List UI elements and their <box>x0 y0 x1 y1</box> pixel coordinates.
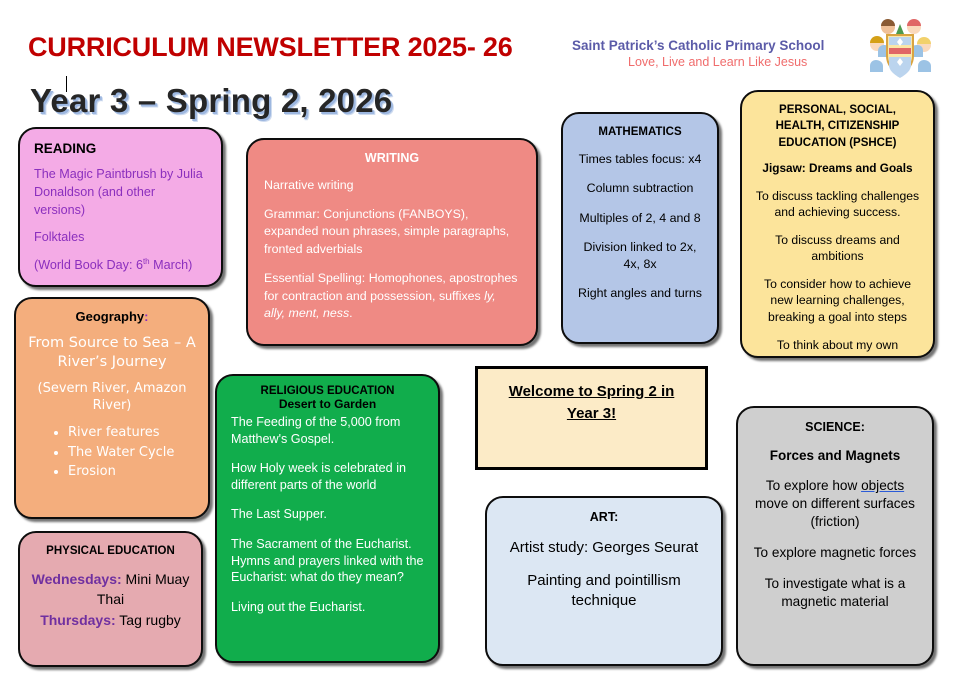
re-heading: RELIGIOUS EDUCATION <box>231 385 424 397</box>
geography-bullet-list: River features The Water Cycle Erosion <box>28 423 196 482</box>
reading-line-2: Folktales <box>34 229 207 247</box>
science-line-1: To explore how objects move on different… <box>750 477 920 531</box>
science-subheading: Forces and Magnets <box>750 448 920 463</box>
art-line-1: Artist study: Georges Seurat <box>501 538 707 558</box>
maths-body: Times tables focus: x4 Column subtractio… <box>575 151 705 301</box>
science-line-1-pre: To explore how <box>766 478 861 493</box>
reading-line-3: (World Book Day: 6th March) <box>34 256 207 275</box>
pe-body: Wednesdays: Mini Muay Thai Thursdays: Ta… <box>30 569 191 630</box>
pshce-item: To think about my own learning how I wan… <box>754 337 921 358</box>
re-line-1: The Feeding of the 5,000 from Matthew's … <box>231 414 424 447</box>
maths-item: Division linked to 2x, 4x, 8x <box>575 239 705 272</box>
list-item: Erosion <box>68 462 196 482</box>
maths-heading: MATHEMATICS <box>575 126 705 138</box>
re-line-3: The Last Supper. <box>231 506 424 523</box>
pe-heading: PHYSICAL EDUCATION <box>30 545 191 557</box>
re-body: The Feeding of the 5,000 from Matthew's … <box>231 414 424 615</box>
science-line-3: To investigate what is a magnetic materi… <box>750 575 920 611</box>
writing-line-2: Grammar: Conjunctions (FANBOYS), expande… <box>264 206 520 259</box>
re-line-4: The Sacrament of the Eucharist. Hymns an… <box>231 536 424 586</box>
writing-body: Narrative writing Grammar: Conjunctions … <box>264 177 520 323</box>
geography-heading-colon: : <box>144 309 148 324</box>
science-box: SCIENCE: Forces and Magnets To explore h… <box>736 406 934 666</box>
reading-ordinal-suffix: th <box>143 257 150 266</box>
pshce-body: To discuss tackling challenges and achie… <box>754 188 921 358</box>
art-line-2: Painting and pointillism technique <box>501 571 707 611</box>
list-item: River features <box>68 423 196 443</box>
science-line-1-post: move on different surfaces (friction) <box>755 496 915 529</box>
list-item: The Water Cycle <box>68 443 196 463</box>
pshce-subheading: Jigsaw: Dreams and Goals <box>754 161 921 175</box>
school-crest-icon <box>866 18 934 80</box>
maths-item: Multiples of 2, 4 and 8 <box>575 210 705 226</box>
year-term-title: Year 3 – Spring 2, 2026 <box>30 82 392 120</box>
maths-item: Column subtraction <box>575 180 705 196</box>
pe-day-2-value: Tag rugby <box>116 612 181 628</box>
religious-education-box: RELIGIOUS EDUCATION Desert to Garden The… <box>215 374 440 663</box>
maths-item: Times tables focus: x4 <box>575 151 705 167</box>
pshce-box: PERSONAL, SOCIAL, HEALTH, CITIZENSHIP ED… <box>740 90 935 358</box>
geography-box: Geography: From Source to Sea – A River’… <box>14 297 210 519</box>
reading-body: The Magic Paintbrush by Julia Donaldson … <box>34 166 207 275</box>
geography-heading-text: Geography <box>76 309 145 324</box>
science-heading: SCIENCE: <box>750 420 920 434</box>
science-spellcheck-word: objects <box>861 478 904 493</box>
reading-line-3-post: March) <box>150 258 193 272</box>
school-name: Saint Patrick’s Catholic Primary School <box>572 38 824 53</box>
pe-day-1-label: Wednesdays: <box>32 571 122 587</box>
maths-item: Right angles and turns <box>575 285 705 301</box>
pshce-item: To discuss dreams and ambitions <box>754 232 921 264</box>
science-line-2: To explore magnetic forces <box>750 544 920 562</box>
page-title: CURRICULUM NEWSLETTER 2025- 26 <box>28 32 513 63</box>
pshce-item: To consider how to achieve new learning … <box>754 276 921 324</box>
writing-line-3-post: . <box>349 306 352 320</box>
pe-day-2-label: Thursdays: <box>40 612 115 628</box>
writing-line-1: Narrative writing <box>264 177 520 195</box>
reading-box: READING The Magic Paintbrush by Julia Do… <box>18 127 223 287</box>
welcome-text: Welcome to Spring 2 in Year 3! <box>494 381 689 425</box>
re-line-5: Living out the Eucharist. <box>231 599 424 616</box>
re-subheading: Desert to Garden <box>231 397 424 411</box>
art-body: Artist study: Georges Seurat Painting an… <box>501 538 707 611</box>
school-motto: Love, Live and Learn Like Jesus <box>628 55 807 69</box>
geography-title: From Source to Sea – A River’s Journey <box>28 334 196 372</box>
art-heading: ART: <box>501 510 707 524</box>
geography-subtitle: (Severn River, Amazon River) <box>28 381 196 415</box>
writing-line-3-pre: Essential Spelling: Homophones, apostrop… <box>264 271 517 303</box>
welcome-box: Welcome to Spring 2 in Year 3! <box>475 366 708 470</box>
physical-education-box: PHYSICAL EDUCATION Wednesdays: Mini Muay… <box>18 531 203 667</box>
writing-line-3: Essential Spelling: Homophones, apostrop… <box>264 270 520 323</box>
pshce-heading: PERSONAL, SOCIAL, HEALTH, CITIZENSHIP ED… <box>754 102 921 151</box>
reading-heading: READING <box>34 141 207 156</box>
reading-line-3-pre: (World Book Day: 6 <box>34 258 143 272</box>
pshce-item: To discuss tackling challenges and achie… <box>754 188 921 220</box>
writing-heading: WRITING <box>264 151 520 165</box>
writing-box: WRITING Narrative writing Grammar: Conju… <box>246 138 538 346</box>
art-box: ART: Artist study: Georges Seurat Painti… <box>485 496 723 666</box>
geography-body: From Source to Sea – A River’s Journey (… <box>28 334 196 482</box>
reading-line-1: The Magic Paintbrush by Julia Donaldson … <box>34 166 207 220</box>
newsletter-page: CURRICULUM NEWSLETTER 2025- 26 Year 3 – … <box>0 0 955 686</box>
science-body: To explore how objects move on different… <box>750 477 920 611</box>
mathematics-box: MATHEMATICS Times tables focus: x4 Colum… <box>561 112 719 344</box>
re-line-2: How Holy week is celebrated in different… <box>231 460 424 493</box>
geography-heading: Geography: <box>28 309 196 324</box>
